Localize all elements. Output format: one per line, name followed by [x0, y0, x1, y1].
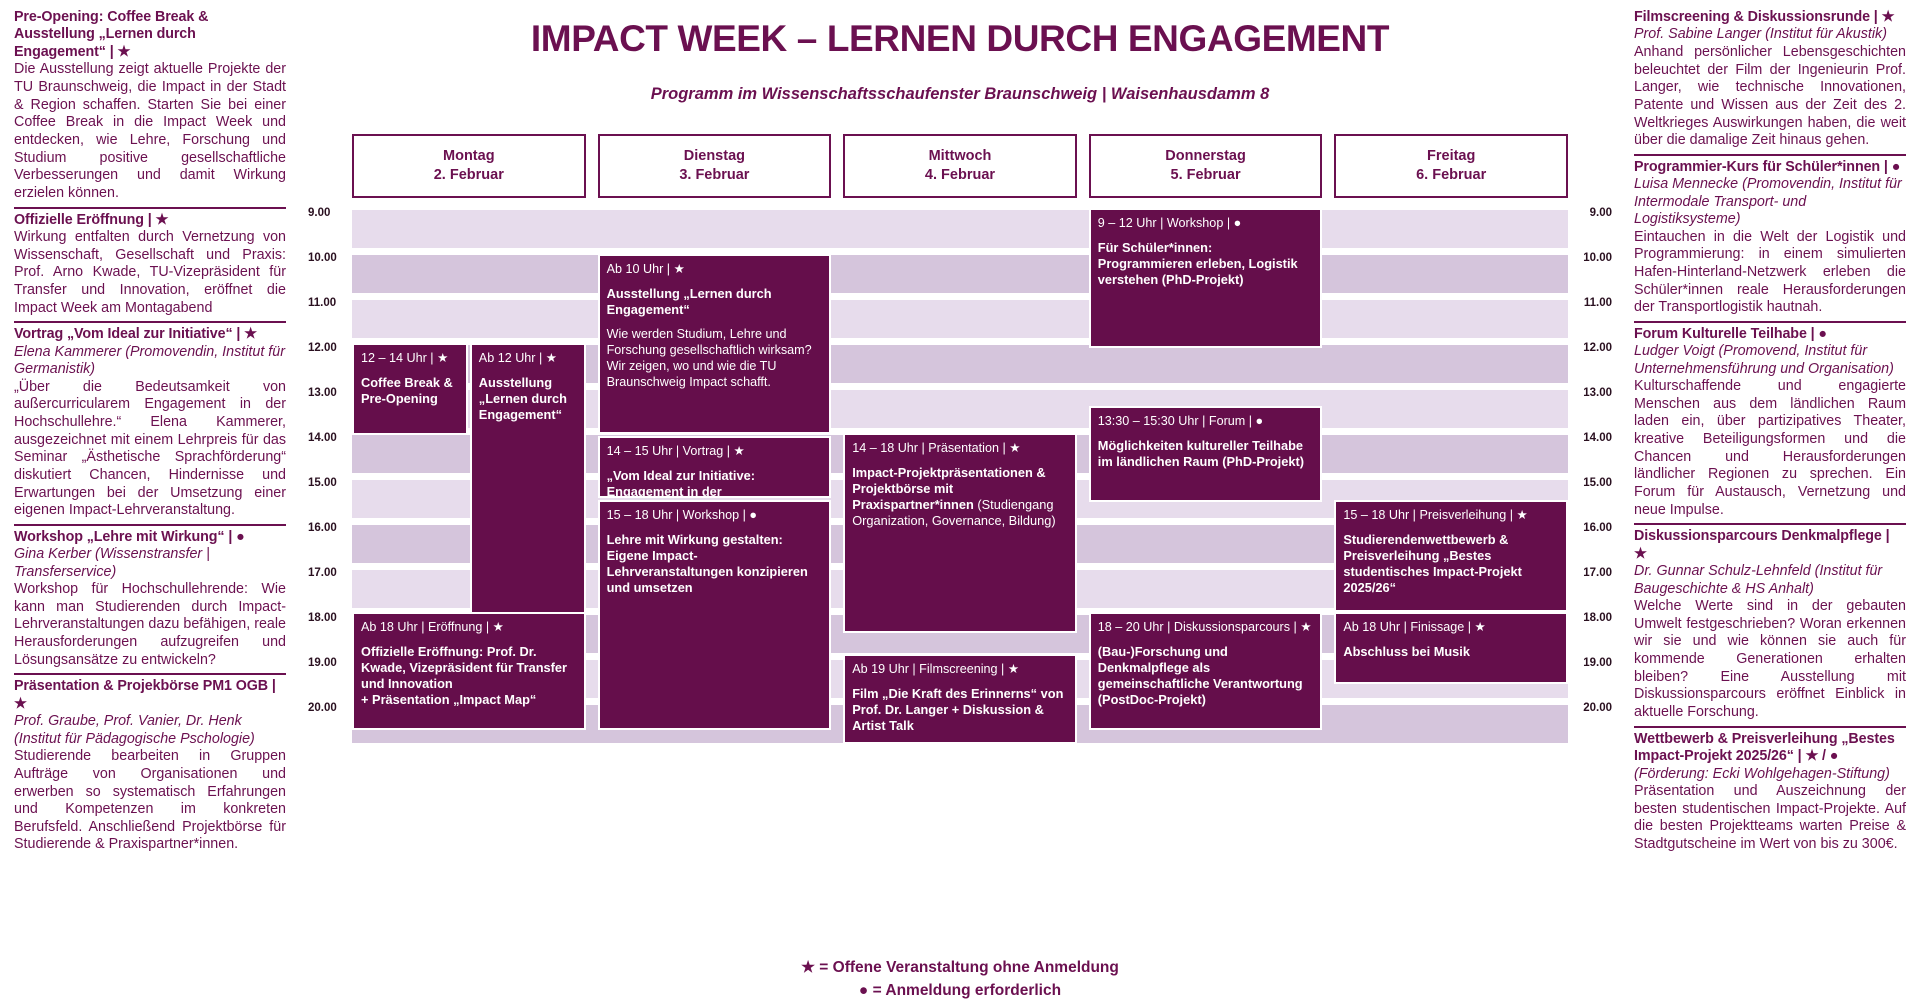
- time-label: 9.00: [306, 207, 352, 219]
- entry-body: Kulturschaffende und engagierte Menschen…: [1634, 378, 1906, 519]
- entry-title: Diskussionsparcours Denkmalpflege | ★: [1634, 528, 1906, 563]
- time-label: 10.00: [1568, 252, 1614, 264]
- left-entry-1: Offizielle Eröffnung | ★ Wirkung entfalt…: [14, 209, 286, 324]
- day-header-mittwoch: Mittwoch 4. Februar: [843, 134, 1077, 197]
- event-vortrag-ideal[interactable]: 14 – 15 Uhr | Vortrag | ★ „Vom Ideal zur…: [598, 436, 832, 498]
- left-entry-2: Vortrag „Vom Ideal zur Initiative“ | ★ E…: [14, 323, 286, 526]
- event-title: Film „Die Kraft des Erinnerns“ von Prof.…: [852, 686, 1068, 734]
- day-date: 6. Februar: [1338, 166, 1564, 184]
- day-name: Dienstag: [602, 147, 828, 165]
- left-entry-0: Pre-Opening: Coffee Break & Ausstellung …: [14, 6, 286, 209]
- event-time: 9 – 12 Uhr | Workshop | ●: [1098, 215, 1314, 231]
- day-column-freitag: 15 – 18 Uhr | Preisverleihung | ★ Studie…: [1334, 210, 1568, 755]
- event-ausstellung-lernen[interactable]: Ab 10 Uhr | ★ Ausstellung „Lernen durch …: [598, 254, 832, 434]
- entry-subtitle: Prof. Graube, Prof. Vanier, Dr. Henk (In…: [14, 713, 286, 748]
- time-label: 16.00: [1568, 522, 1614, 534]
- event-time: Ab 18 Uhr | Eröffnung | ★: [361, 619, 577, 635]
- event-time: 12 – 14 Uhr | ★: [361, 350, 459, 366]
- right-entry-1: Programmier-Kurs für Schüler*innen | ● L…: [1634, 156, 1906, 323]
- right-entry-0: Filmscreening & Diskussionsrunde | ★ Pro…: [1634, 6, 1906, 156]
- event-workshop-lehre[interactable]: 15 – 18 Uhr | Workshop | ● Lehre mit Wir…: [598, 500, 832, 730]
- legend-dot-line: ● = Anmeldung erforderlich: [300, 979, 1620, 1002]
- right-sidebar: Filmscreening & Diskussionsrunde | ★ Pro…: [1620, 0, 1920, 1008]
- event-title: Lehre mit Wirkung gestalten: Eigene Impa…: [607, 532, 823, 596]
- day-column-montag: 12 – 14 Uhr | ★ Coffee Break & Pre-Openi…: [352, 210, 586, 755]
- entry-title: Präsentation & Projekbörse PM1 OGB | ★: [14, 678, 286, 713]
- event-time: 13:30 – 15:30 Uhr | Forum | ●: [1098, 413, 1314, 429]
- event-title: Studierendenwettbewerb & Preisverleihung…: [1343, 532, 1559, 596]
- event-title: Ausstellung „Lernen durch Engagement“: [479, 375, 577, 423]
- day-header-dienstag: Dienstag 3. Februar: [598, 134, 832, 197]
- event-time: Ab 18 Uhr | Finissage | ★: [1343, 619, 1559, 635]
- entry-body: „Über die Bedeutsamkeit von außercurricu…: [14, 379, 286, 520]
- day-name: Freitag: [1338, 147, 1564, 165]
- event-time: 14 – 18 Uhr | Präsentation | ★: [852, 440, 1068, 456]
- entry-subtitle: Gina Kerber (Wissenstransfer | Transfers…: [14, 546, 286, 581]
- day-column-dienstag: Ab 10 Uhr | ★ Ausstellung „Lernen durch …: [598, 210, 832, 755]
- page-title: IMPACT WEEK – LERNEN DURCH ENGAGEMENT: [306, 18, 1614, 59]
- day-header-montag: Montag 2. Februar: [352, 134, 586, 197]
- event-time: Ab 19 Uhr | Filmscreening | ★: [852, 661, 1068, 677]
- event-time: Ab 12 Uhr | ★: [479, 350, 577, 366]
- day-date: 2. Februar: [356, 166, 582, 184]
- event-time: 15 – 18 Uhr | Workshop | ●: [607, 507, 823, 523]
- day-name: Mittwoch: [847, 147, 1073, 165]
- time-label: 16.00: [306, 522, 352, 534]
- time-label: 18.00: [1568, 612, 1614, 624]
- time-label: 12.00: [1568, 342, 1614, 354]
- event-time: 18 – 20 Uhr | Diskussionsparcours | ★: [1098, 619, 1314, 635]
- event-title: Möglichkeiten kultureller Teilhabe im lä…: [1098, 438, 1314, 470]
- event-offizielle-eroeffnung[interactable]: Ab 18 Uhr | Eröffnung | ★ Offizielle Erö…: [352, 612, 586, 730]
- time-label: 17.00: [1568, 567, 1614, 579]
- event-title: (Bau-)Forschung und Denkmalpflege als ge…: [1098, 644, 1314, 708]
- entry-subtitle: Elena Kammerer (Promovendin, Institut fü…: [14, 344, 286, 379]
- event-title: Impact-Projektpräsentationen & Projektbö…: [852, 465, 1068, 529]
- entry-body: Wirkung entfalten durch Vernetzung von W…: [14, 229, 286, 317]
- schedule-grid: Montag 2. Februar Dienstag 3. Februar Mi…: [306, 134, 1614, 754]
- event-forum-kulturelle-teilhabe[interactable]: 13:30 – 15:30 Uhr | Forum | ● Möglichkei…: [1089, 406, 1323, 502]
- day-column-donnerstag: 9 – 12 Uhr | Workshop | ● Für Schüler*in…: [1089, 210, 1323, 755]
- entry-body: Präsentation und Auszeichnung der besten…: [1634, 783, 1906, 854]
- main-schedule: IMPACT WEEK – LERNEN DURCH ENGAGEMENT Pr…: [300, 0, 1620, 1008]
- entry-subtitle: Dr. Gunnar Schulz-Lehnfeld (Institut für…: [1634, 563, 1906, 598]
- time-label: 13.00: [1568, 387, 1614, 399]
- event-coffee-break[interactable]: 12 – 14 Uhr | ★ Coffee Break & Pre-Openi…: [352, 343, 468, 435]
- event-title: Abschluss bei Musik: [1343, 644, 1559, 660]
- entry-title: Wettbewerb & Preisverleihung „Bestes Imp…: [1634, 731, 1906, 766]
- day-header-row: Montag 2. Februar Dienstag 3. Februar Mi…: [352, 134, 1568, 197]
- event-title: Offizielle Eröffnung: Prof. Dr. Kwade, V…: [361, 644, 577, 692]
- time-label: 10.00: [306, 252, 352, 264]
- event-desc: Wie werden Studium, Lehre und Forschung …: [607, 327, 823, 391]
- event-title: Coffee Break & Pre-Opening: [361, 375, 459, 407]
- entry-title: Forum Kulturelle Teilhabe | ●: [1634, 326, 1906, 343]
- entry-body: Welche Werte sind in der gebauten Umwelt…: [1634, 598, 1906, 722]
- event-filmscreening[interactable]: Ab 19 Uhr | Filmscreening | ★ Film „Die …: [843, 654, 1077, 744]
- time-label: 19.00: [1568, 657, 1614, 669]
- entry-body: Die Ausstellung zeigt aktuelle Projekte …: [14, 61, 286, 202]
- right-entry-2: Forum Kulturelle Teilhabe | ● Ludger Voi…: [1634, 323, 1906, 526]
- event-time: Ab 10 Uhr | ★: [607, 261, 823, 277]
- time-label: 14.00: [306, 432, 352, 444]
- event-desc: Programmieren erleben, Logistik verstehe…: [1098, 256, 1314, 288]
- time-label: 12.00: [306, 342, 352, 354]
- event-time: 15 – 18 Uhr | Preisverleihung | ★: [1343, 507, 1559, 523]
- event-desc: + Präsentation „Impact Map“: [361, 692, 577, 708]
- day-header-freitag: Freitag 6. Februar: [1334, 134, 1568, 197]
- event-finissage[interactable]: Ab 18 Uhr | Finissage | ★ Abschluss bei …: [1334, 612, 1568, 684]
- time-label: 19.00: [306, 657, 352, 669]
- time-label: 15.00: [306, 477, 352, 489]
- event-diskussionsparcours[interactable]: 18 – 20 Uhr | Diskussionsparcours | ★ (B…: [1089, 612, 1323, 730]
- time-label: 11.00: [1568, 297, 1614, 309]
- legend: ★ = Offene Veranstaltung ohne Anmeldung …: [300, 956, 1620, 1003]
- time-label: 18.00: [306, 612, 352, 624]
- entry-subtitle: Luisa Mennecke (Promovendin, Institut fü…: [1634, 176, 1906, 228]
- legend-star-line: ★ = Offene Veranstaltung ohne Anmeldung: [300, 956, 1620, 979]
- day-header-donnerstag: Donnerstag 5. Februar: [1089, 134, 1323, 197]
- day-name: Donnerstag: [1093, 147, 1319, 165]
- entry-subtitle: Ludger Voigt (Promovend, Institut für Un…: [1634, 343, 1906, 378]
- event-time: 14 – 15 Uhr | Vortrag | ★: [607, 443, 823, 459]
- event-preisverleihung[interactable]: 15 – 18 Uhr | Preisverleihung | ★ Studie…: [1334, 500, 1568, 612]
- time-label: 15.00: [1568, 477, 1614, 489]
- time-label: 11.00: [306, 297, 352, 309]
- entry-body: Eintauchen in die Welt der Logistik und …: [1634, 229, 1906, 317]
- schedule-body: 9.00 10.00 11.00 12.00 13.00 14.00 15.00…: [352, 210, 1568, 755]
- event-title: Für Schüler*innen:: [1098, 240, 1314, 256]
- entry-title: Programmier-Kurs für Schüler*innen | ●: [1634, 159, 1906, 176]
- event-title: „Vom Ideal zur Initiative: Engagement in…: [607, 468, 823, 498]
- time-label: 14.00: [1568, 432, 1614, 444]
- left-sidebar: Pre-Opening: Coffee Break & Ausstellung …: [0, 0, 300, 1008]
- entry-body: Anhand persönlicher Lebensgeschichten be…: [1634, 44, 1906, 150]
- page-subtitle: Programm im Wissenschaftsschaufenster Br…: [306, 85, 1614, 104]
- day-name: Montag: [356, 147, 582, 165]
- entry-title: Offizielle Eröffnung | ★: [14, 212, 286, 229]
- event-title: Ausstellung „Lernen durch Engagement“: [607, 286, 823, 318]
- day-date: 3. Februar: [602, 166, 828, 184]
- time-label: 20.00: [1568, 702, 1614, 714]
- entry-title: Pre-Opening: Coffee Break & Ausstellung …: [14, 9, 286, 61]
- day-date: 4. Februar: [847, 166, 1073, 184]
- right-entry-4: Wettbewerb & Preisverleihung „Bestes Imp…: [1634, 728, 1906, 858]
- entry-subtitle: (Förderung: Ecki Wohlgehagen-Stiftung): [1634, 766, 1906, 783]
- day-columns: 12 – 14 Uhr | ★ Coffee Break & Pre-Openi…: [352, 210, 1568, 755]
- time-label: 13.00: [306, 387, 352, 399]
- time-label: 20.00: [306, 702, 352, 714]
- left-entry-3: Workshop „Lehre mit Wirkung“ | ● Gina Ke…: [14, 526, 286, 676]
- time-label: 9.00: [1568, 207, 1614, 219]
- entry-body: Workshop für Hochschullehrende: Wie kann…: [14, 581, 286, 669]
- entry-title: Vortrag „Vom Ideal zur Initiative“ | ★: [14, 326, 286, 343]
- entry-title: Filmscreening & Diskussionsrunde | ★: [1634, 9, 1906, 26]
- event-impact-projektpraesentation[interactable]: 14 – 18 Uhr | Präsentation | ★ Impact-Pr…: [843, 433, 1077, 633]
- time-label: 17.00: [306, 567, 352, 579]
- entry-title: Workshop „Lehre mit Wirkung“ | ●: [14, 529, 286, 546]
- event-programmier-kurs[interactable]: 9 – 12 Uhr | Workshop | ● Für Schüler*in…: [1089, 208, 1323, 348]
- poster-page: Pre-Opening: Coffee Break & Ausstellung …: [0, 0, 1920, 1008]
- right-entry-3: Diskussionsparcours Denkmalpflege | ★ Dr…: [1634, 525, 1906, 727]
- day-column-mittwoch: 14 – 18 Uhr | Präsentation | ★ Impact-Pr…: [843, 210, 1077, 755]
- left-entry-4: Präsentation & Projekbörse PM1 OGB | ★ P…: [14, 675, 286, 858]
- day-date: 5. Februar: [1093, 166, 1319, 184]
- entry-subtitle: Prof. Sabine Langer (Institut für Akusti…: [1634, 26, 1906, 43]
- entry-body: Studierende bearbeiten in Gruppen Aufträ…: [14, 748, 286, 854]
